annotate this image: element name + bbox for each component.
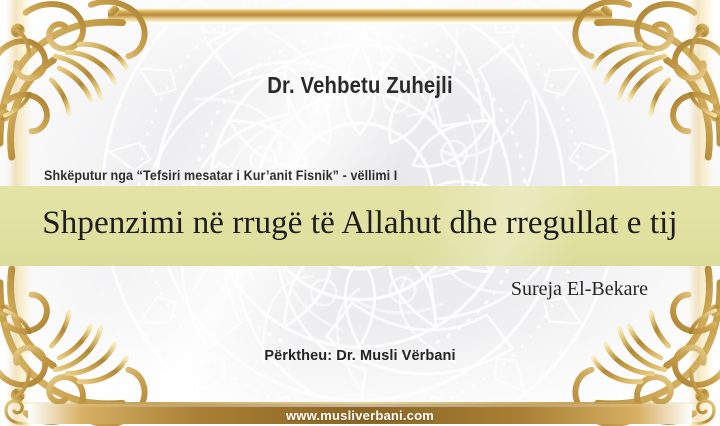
book-cover: Dr. Vehbetu Zuhejli Shkëputur nga “Tefsi…: [0, 0, 720, 426]
website-url[interactable]: www.musliverbani.com: [0, 408, 720, 423]
source-subtitle: Shkëputur nga “Tefsiri mesatar i Kur’ani…: [44, 168, 397, 183]
top-gold-rule: [108, 8, 612, 23]
surah-reference: Sureja El-Bekare: [511, 278, 648, 301]
translator-credit: Përktheu: Dr. Musli Vërbani: [0, 348, 720, 364]
book-title: Shpenzimi në rrugë të Allahut dhe rregul…: [0, 205, 720, 242]
author-name: Dr. Vehbetu Zuhejli: [43, 72, 677, 99]
